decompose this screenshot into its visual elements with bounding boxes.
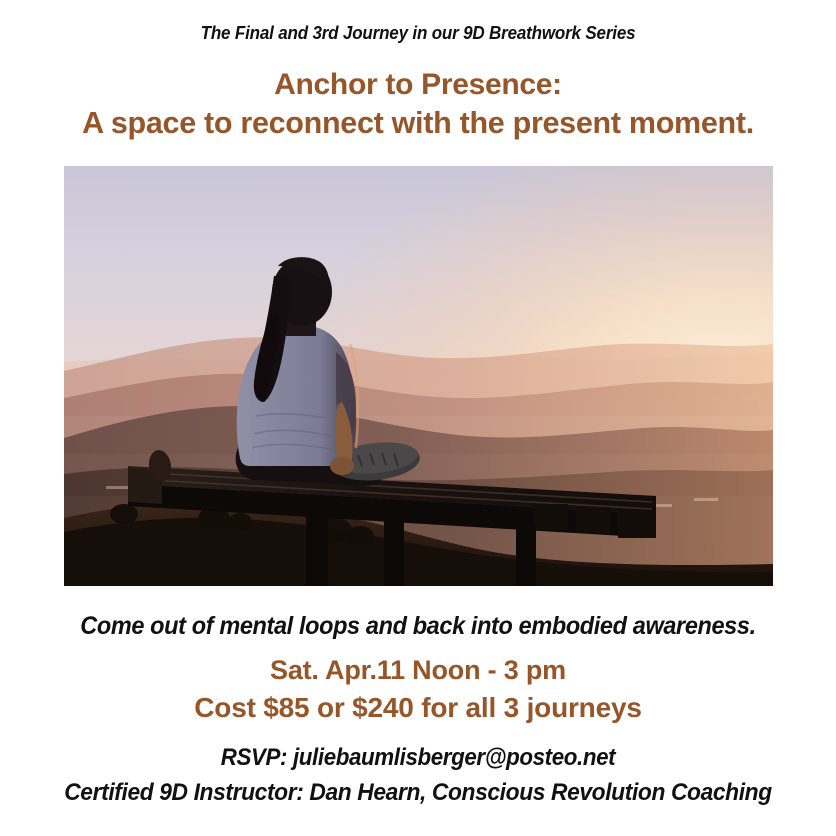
event-schedule: Sat. Apr.11 Noon - 3 pm bbox=[0, 652, 836, 689]
series-kicker: The Final and 3rd Journey in our 9D Brea… bbox=[33, 22, 802, 44]
event-cost: Cost $85 or $240 for all 3 journeys bbox=[0, 689, 836, 726]
hero-photo bbox=[64, 166, 773, 586]
page-title: Anchor to Presence: A space to reconnect… bbox=[0, 66, 836, 142]
headline-line-2: A space to reconnect with the present mo… bbox=[0, 104, 836, 142]
headline-line-1: Anchor to Presence: bbox=[274, 68, 562, 101]
instructor-credit: Certified 9D Instructor: Dan Hearn, Cons… bbox=[29, 775, 806, 810]
event-details: Sat. Apr.11 Noon - 3 pm Cost $85 or $240… bbox=[0, 652, 836, 726]
tagline: Come out of mental loops and back into e… bbox=[25, 612, 811, 641]
flyer-poster: The Final and 3rd Journey in our 9D Brea… bbox=[0, 0, 836, 836]
rsvp-email[interactable]: RSVP: juliebaumlisberger@posteo.net bbox=[29, 740, 806, 775]
contact-block: RSVP: juliebaumlisberger@posteo.net Cert… bbox=[0, 740, 836, 810]
sunset-bench-illustration bbox=[64, 166, 773, 586]
